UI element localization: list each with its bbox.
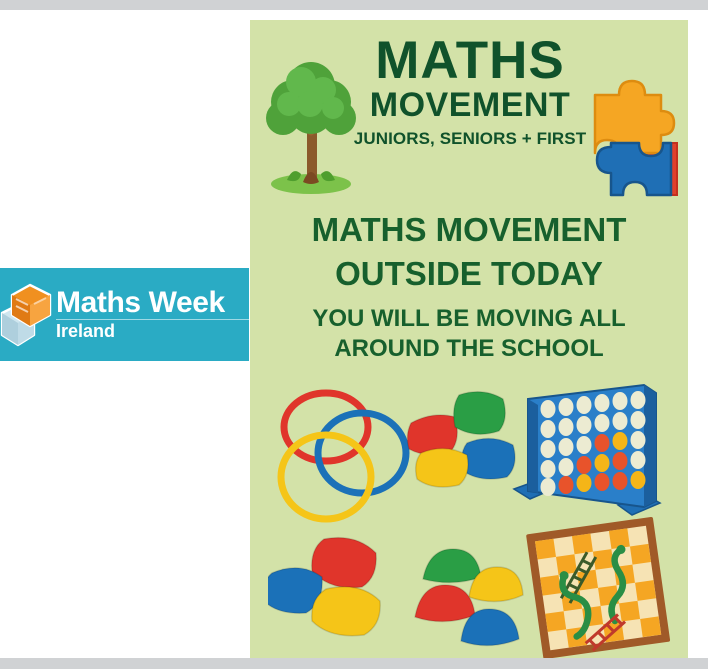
- poster-header-text: MATHS MOVEMENT JUNIORS, SENIORS + FIRST: [320, 34, 620, 150]
- maths-week-cube-icon: [0, 279, 52, 351]
- poster-message: MATHS MOVEMENT OUTSIDE TODAY YOU WILL BE…: [260, 208, 678, 365]
- logo-divider: [56, 319, 249, 320]
- connect-four-icon: [508, 383, 668, 528]
- snakes-and-ladders-icon: [522, 515, 674, 660]
- poster-classes: JUNIORS, SENIORS + FIRST: [320, 129, 620, 149]
- maths-movement-poster: MATHS MOVEMENT JUNIORS, SENIORS + FIRST: [250, 20, 688, 668]
- browser-bottom-bar: [0, 658, 708, 669]
- logo-line-maths-week: Maths Week: [56, 287, 249, 319]
- poster-message-line-3: YOU WILL BE MOVING ALL: [260, 304, 678, 335]
- poster-illustrations: [250, 375, 688, 668]
- logo-line-ireland: Ireland: [56, 322, 249, 340]
- page-right-margin: [688, 20, 708, 668]
- page-canvas: Maths Week Ireland: [0, 10, 708, 658]
- stepping-stones-icon: [413, 537, 528, 647]
- poster-message-line-4: AROUND THE SCHOOL: [260, 334, 678, 365]
- poster-header: MATHS MOVEMENT JUNIORS, SENIORS + FIRST: [250, 20, 688, 202]
- browser-top-bar: [0, 0, 708, 10]
- screenshot-root: Maths Week Ireland: [0, 0, 708, 669]
- maths-week-ireland-logo[interactable]: Maths Week Ireland: [0, 268, 249, 361]
- maths-week-logo-text: Maths Week Ireland: [56, 287, 249, 343]
- poster-message-line-2: OUTSIDE TODAY: [260, 252, 678, 296]
- poster-message-line-1: MATHS MOVEMENT: [260, 208, 678, 252]
- bean-bags-icon-2: [268, 533, 418, 653]
- hula-hoops-icon: [264, 385, 424, 530]
- jigsaw-puzzle-icon: [585, 65, 685, 205]
- bean-bags-icon: [405, 387, 525, 497]
- poster-title-movement: MOVEMENT: [320, 86, 620, 125]
- poster-title-maths: MATHS: [320, 34, 620, 88]
